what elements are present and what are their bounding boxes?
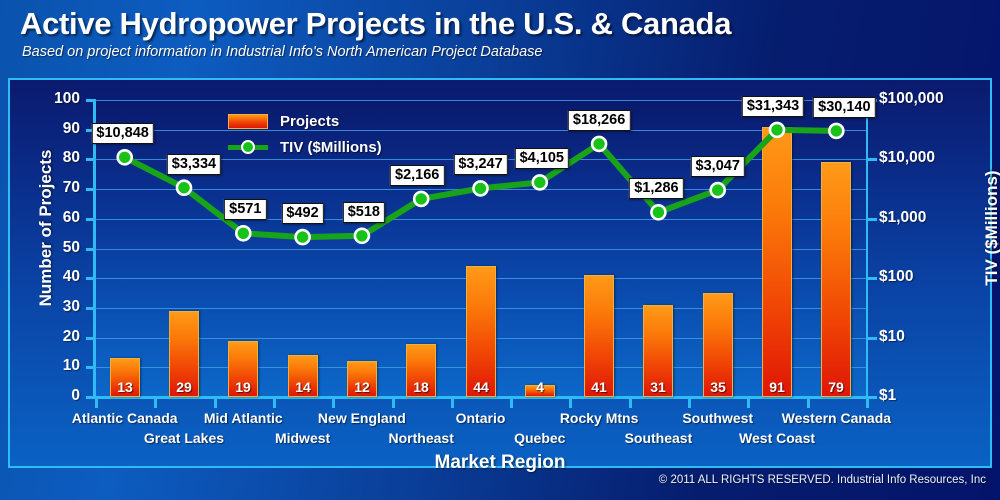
bar-value-label: 31: [643, 379, 673, 395]
tiv-value-label: $4,105: [515, 148, 569, 169]
x-axis-tick-mark: [510, 399, 513, 408]
x-axis-category-label: Midwest: [275, 430, 330, 446]
x-axis-category-label: Atlantic Canada: [72, 410, 178, 426]
tiv-value-label: $3,047: [691, 156, 745, 177]
page-title: Active Hydropower Projects in the U.S. &…: [20, 6, 731, 42]
y-axis-left-tick-mark: [86, 337, 95, 340]
y-axis-right-title: TIV ($Millions): [982, 113, 1000, 343]
x-axis-title: Market Region: [0, 452, 1000, 474]
gridline: [95, 249, 866, 250]
tiv-value-label: $1,286: [629, 178, 683, 199]
tiv-value-label: $518: [343, 202, 385, 223]
y-axis-left-tick-mark: [86, 396, 95, 399]
bar-value-label: 4: [525, 379, 555, 395]
tiv-value-label: $30,140: [813, 97, 875, 118]
bar-value-label: 44: [466, 379, 496, 395]
x-axis-category-label: West Coast: [739, 430, 815, 446]
x-axis-tick-mark: [154, 399, 157, 408]
x-axis-tick-mark: [95, 399, 98, 408]
bar-west-coast[interactable]: [762, 127, 792, 397]
tiv-value-label: $492: [281, 203, 323, 224]
x-axis-category-label: Northeast: [389, 430, 454, 446]
bar-ontario[interactable]: [466, 266, 496, 397]
y-axis-right-tick-label: $100: [879, 268, 913, 286]
y-axis-right-tick-mark: [867, 158, 877, 161]
x-axis-tick-mark: [332, 399, 335, 408]
tiv-value-label: $571: [224, 199, 266, 220]
bar-value-label: 18: [406, 379, 436, 395]
bar-value-label: 19: [228, 379, 258, 395]
x-axis-category-label: Southeast: [625, 430, 693, 446]
legend-line-swatch-icon: [228, 139, 268, 155]
x-axis-tick-mark: [273, 399, 276, 408]
x-axis-category-label: Quebec: [514, 430, 565, 446]
bar-value-label: 35: [703, 379, 733, 395]
tiv-value-label: $3,247: [453, 154, 507, 175]
legend-label-tiv: TIV ($Millions): [280, 139, 382, 156]
copyright-notice: © 2011 ALL RIGHTS RESERVED. Industrial I…: [659, 474, 986, 486]
x-axis-tick-mark: [629, 399, 632, 408]
y-axis-left-tick-mark: [86, 277, 95, 280]
y-axis-right-tick-label: $10: [879, 328, 905, 346]
x-axis-tick-mark: [688, 399, 691, 408]
x-axis-category-label: Southwest: [682, 410, 753, 426]
x-axis-tick-mark: [451, 399, 454, 408]
x-axis-tick-mark: [214, 399, 217, 408]
y-axis-left-tick-mark: [86, 248, 95, 251]
y-axis-left-tick-mark: [86, 218, 95, 221]
y-axis-left-tick-label: 0: [18, 387, 80, 405]
tiv-value-label: $10,848: [91, 123, 153, 144]
page-subtitle: Based on project information in Industri…: [22, 44, 542, 60]
y-axis-left-tick-label: 100: [18, 90, 80, 108]
y-axis-left-tick-mark: [86, 188, 95, 191]
legend-item-tiv: TIV ($Millions): [228, 134, 382, 160]
legend-item-projects: Projects: [228, 108, 382, 134]
x-axis-tick-mark: [392, 399, 395, 408]
y-axis-left-tick-mark: [86, 99, 95, 102]
chart-legend: Projects TIV ($Millions): [228, 108, 382, 160]
y-axis-right-tick-label: $10,000: [879, 149, 935, 167]
y-axis-right-tick-label: $100,000: [879, 90, 944, 108]
gridline: [95, 219, 866, 220]
x-axis-category-label: Mid Atlantic: [204, 410, 283, 426]
bar-value-label: 91: [762, 379, 792, 395]
header-banner: Active Hydropower Projects in the U.S. &…: [0, 0, 1000, 74]
y-axis-left-tick-label: 10: [18, 357, 80, 375]
tiv-value-label: $3,334: [167, 154, 221, 175]
plot-right-border: [866, 100, 868, 398]
y-axis-left-tick-mark: [86, 366, 95, 369]
x-axis-category-label: Rocky Mtns: [560, 410, 639, 426]
gridline: [95, 130, 866, 131]
x-axis-tick-mark: [866, 399, 869, 408]
x-axis-tick-mark: [569, 399, 572, 408]
legend-bar-swatch-icon: [228, 114, 268, 129]
y-axis-left-tick-mark: [86, 307, 95, 310]
bar-value-label: 12: [347, 379, 377, 395]
x-axis-tick-mark: [747, 399, 750, 408]
y-axis-right-tick-mark: [867, 337, 877, 340]
tiv-value-label: $2,166: [390, 165, 444, 186]
x-axis-category-label: New England: [318, 410, 406, 426]
chart-screenshot: Active Hydropower Projects in the U.S. &…: [0, 0, 1000, 500]
y-axis-right-tick-mark: [867, 218, 877, 221]
y-axis-right-tick-label: $1,000: [879, 209, 926, 227]
tiv-value-label: $18,266: [568, 110, 630, 131]
bar-value-label: 79: [821, 379, 851, 395]
bar-value-label: 41: [584, 379, 614, 395]
y-axis-left-tick-mark: [86, 158, 95, 161]
y-axis-right-tick-mark: [867, 277, 877, 280]
x-axis-category-label: Ontario: [456, 410, 506, 426]
bar-value-label: 29: [169, 379, 199, 395]
y-axis-left-title: Number of Projects: [36, 113, 56, 343]
bar-western-canada[interactable]: [821, 162, 851, 397]
y-axis-right-tick-label: $1: [879, 387, 896, 405]
gridline: [95, 189, 866, 190]
bar-value-label: 14: [288, 379, 318, 395]
bar-value-label: 13: [110, 379, 140, 395]
x-axis-tick-mark: [807, 399, 810, 408]
legend-label-projects: Projects: [280, 113, 339, 130]
x-axis-category-label: Great Lakes: [144, 430, 224, 446]
x-axis-category-label: Western Canada: [782, 410, 891, 426]
tiv-value-label: $31,343: [742, 96, 804, 117]
